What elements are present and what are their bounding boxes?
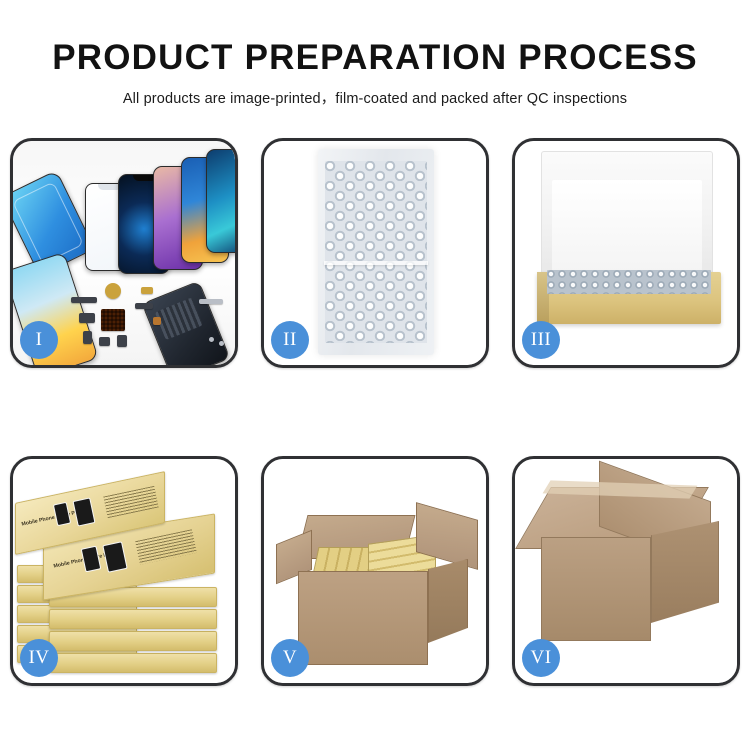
carton-side-panel-icon (428, 559, 468, 643)
product-preparation-infographic: PRODUCT PREPARATION PROCESS All products… (0, 0, 750, 750)
carton-right-side-icon (651, 521, 719, 623)
part-taptic-icon (99, 337, 110, 346)
part-bracket-icon (79, 313, 95, 323)
part-antenna-icon (199, 299, 223, 304)
foam-padding-icon (541, 151, 713, 279)
part-flex-cable-icon (71, 297, 97, 303)
part-speaker-icon (105, 283, 121, 299)
phone-display-teal-icon (206, 149, 235, 253)
page-subtitle: All products are image-printed，film-coat… (0, 87, 750, 108)
step-badge-2: II (271, 321, 309, 359)
header: PRODUCT PREPARATION PROCESS All products… (0, 36, 750, 108)
step-badge-1: I (20, 321, 58, 359)
step-badge-6: VI (522, 639, 560, 677)
part-button-icon (141, 287, 153, 294)
stack-box-r5-icon (49, 631, 217, 651)
part-copper-icon (153, 317, 161, 325)
step-panel-6: VI (512, 456, 740, 686)
part-battery-tab-icon (117, 335, 127, 347)
bubble-wrapped-item-icon (547, 270, 711, 294)
stack-box-r4-icon (49, 609, 217, 629)
carton-front-face-icon (541, 537, 651, 641)
step-panel-5: V (261, 456, 489, 686)
step-panel-4: Mobile Phone Spare Parts Mobile Phone Sp… (10, 456, 238, 686)
part-connector-icon (135, 303, 153, 309)
step-badge-3: III (522, 321, 560, 359)
step-panel-1: I (10, 138, 238, 368)
part-camera-icon (83, 331, 92, 344)
step-badge-4: IV (20, 639, 58, 677)
stack-box-r6-icon (49, 653, 217, 673)
bubble-seal-line (324, 261, 428, 265)
part-chip-grid-icon (101, 309, 125, 331)
step-panel-3: III (512, 138, 740, 368)
process-steps-grid: I II III (10, 138, 740, 686)
carton-front-panel-icon (298, 571, 428, 665)
bubble-pattern (325, 161, 427, 343)
part-screw-icon (209, 337, 214, 342)
part-screw-2-icon (219, 341, 224, 346)
step-badge-5: V (271, 639, 309, 677)
bubble-wrap-bag-icon (318, 149, 434, 355)
step-panel-2: II (261, 138, 489, 368)
page-title: PRODUCT PREPARATION PROCESS (0, 36, 750, 80)
